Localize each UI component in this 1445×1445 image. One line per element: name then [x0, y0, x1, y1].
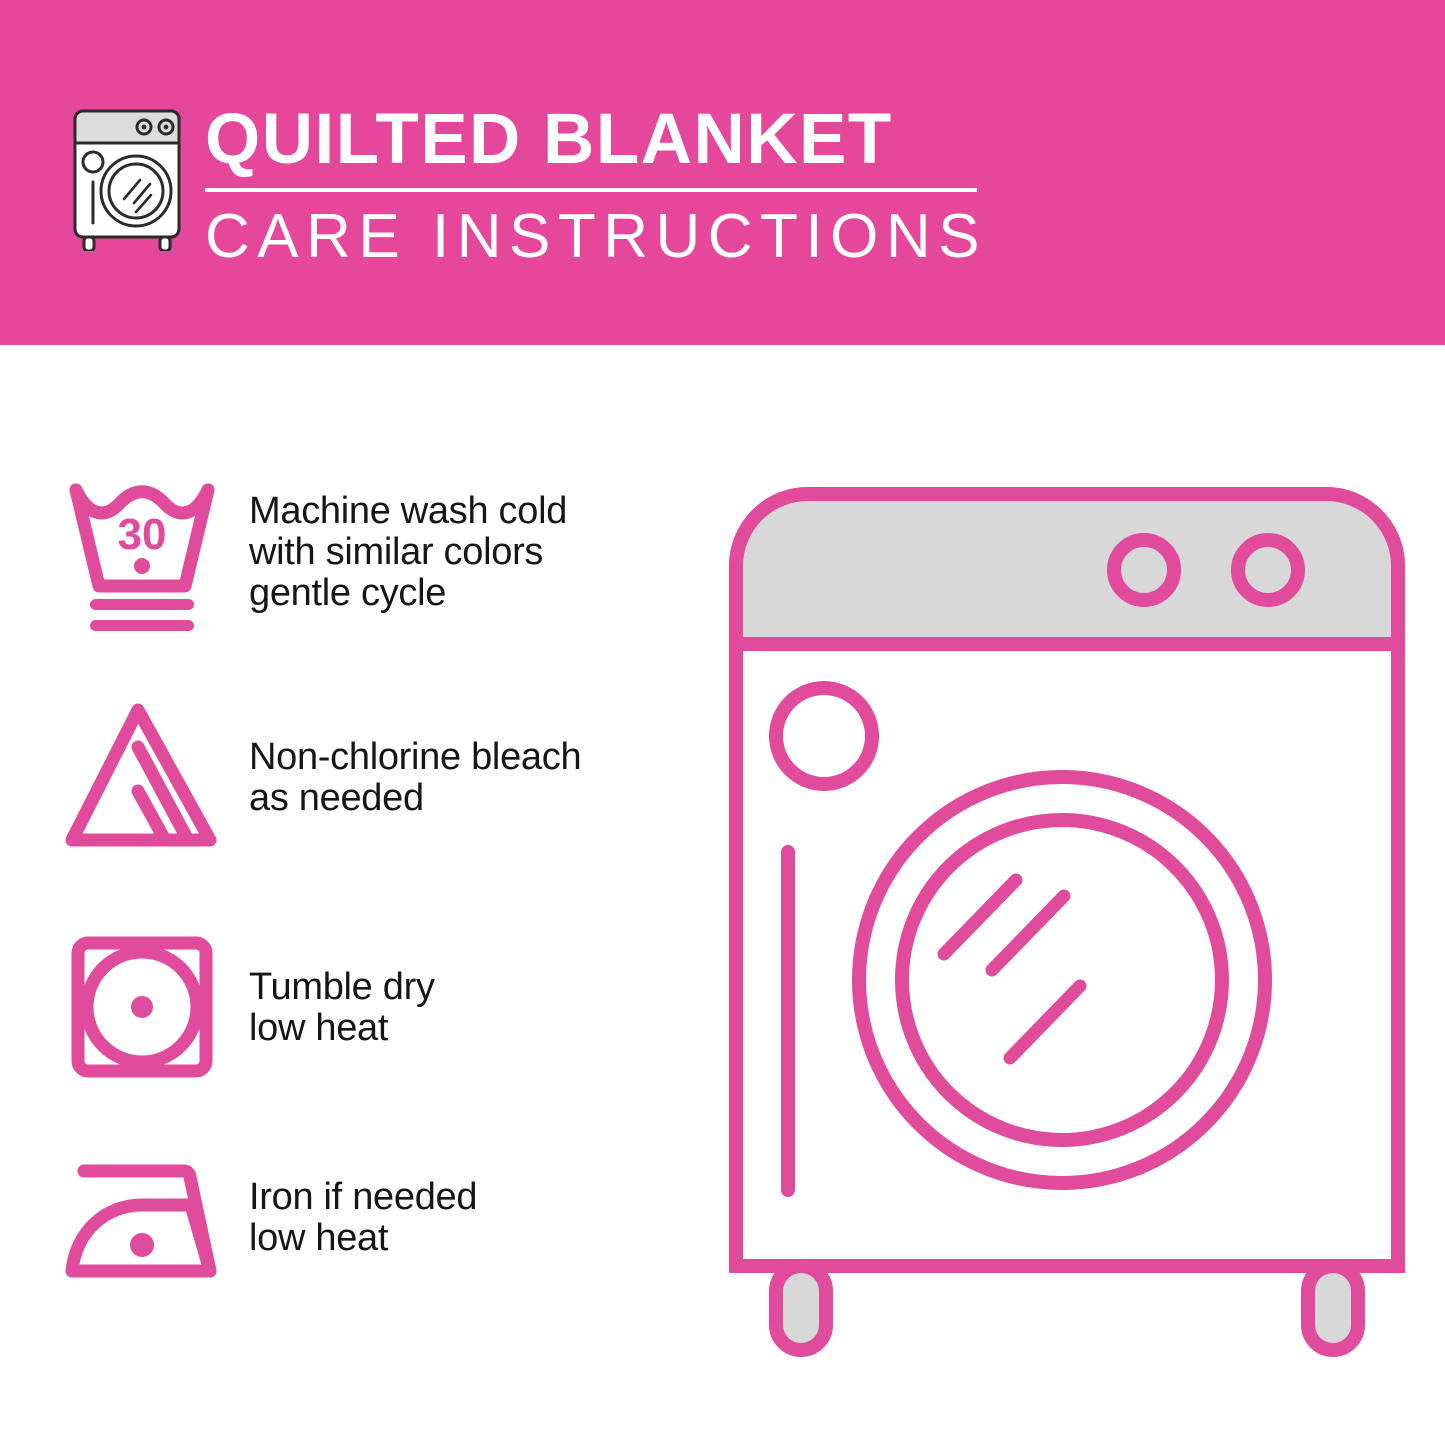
list-item-label: Tumble dry low heat	[235, 967, 435, 1049]
care-symbol-list: 30 Machine wash cold with similar colors…	[0, 345, 700, 1445]
page-subtitle: CARE INSTRUCTIONS	[205, 202, 995, 272]
front-load-washing-machine-illustration	[722, 480, 1412, 1360]
machine-leg	[776, 1266, 826, 1350]
wash-tub-30-gentle-icon: 30	[60, 465, 235, 640]
header-band: QUILTED BLANKET CARE INSTRUCTIONS	[0, 0, 1445, 345]
list-item: Tumble dry low heat	[60, 920, 700, 1095]
list-item-label: Iron if needed low heat	[235, 1177, 477, 1259]
list-item-label: Non-chlorine bleach as needed	[235, 737, 581, 819]
machine-leg	[1308, 1266, 1358, 1350]
care-instructions-infographic: QUILTED BLANKET CARE INSTRUCTIONS	[0, 0, 1445, 1445]
header-title-group: QUILTED BLANKET CARE INSTRUCTIONS	[205, 100, 995, 272]
knob-icon	[1114, 540, 1174, 600]
washing-machine-icon	[62, 103, 192, 251]
knob-icon	[1238, 540, 1298, 600]
list-item: Non-chlorine bleach as needed	[60, 690, 700, 865]
page-title: QUILTED BLANKET	[205, 100, 995, 180]
list-item: Iron if needed low heat	[60, 1130, 700, 1305]
tumble-dry-low-icon	[60, 920, 235, 1095]
non-chlorine-bleach-triangle-icon	[60, 690, 235, 865]
title-divider	[205, 188, 977, 192]
list-item: 30 Machine wash cold with similar colors…	[60, 465, 700, 640]
door-inner-ring	[902, 820, 1222, 1140]
indicator-circle-icon	[776, 688, 872, 784]
wash-temperature-value: 30	[118, 510, 167, 559]
iron-low-heat-icon	[60, 1130, 235, 1305]
list-item-label: Machine wash cold with similar colors ge…	[235, 491, 567, 614]
